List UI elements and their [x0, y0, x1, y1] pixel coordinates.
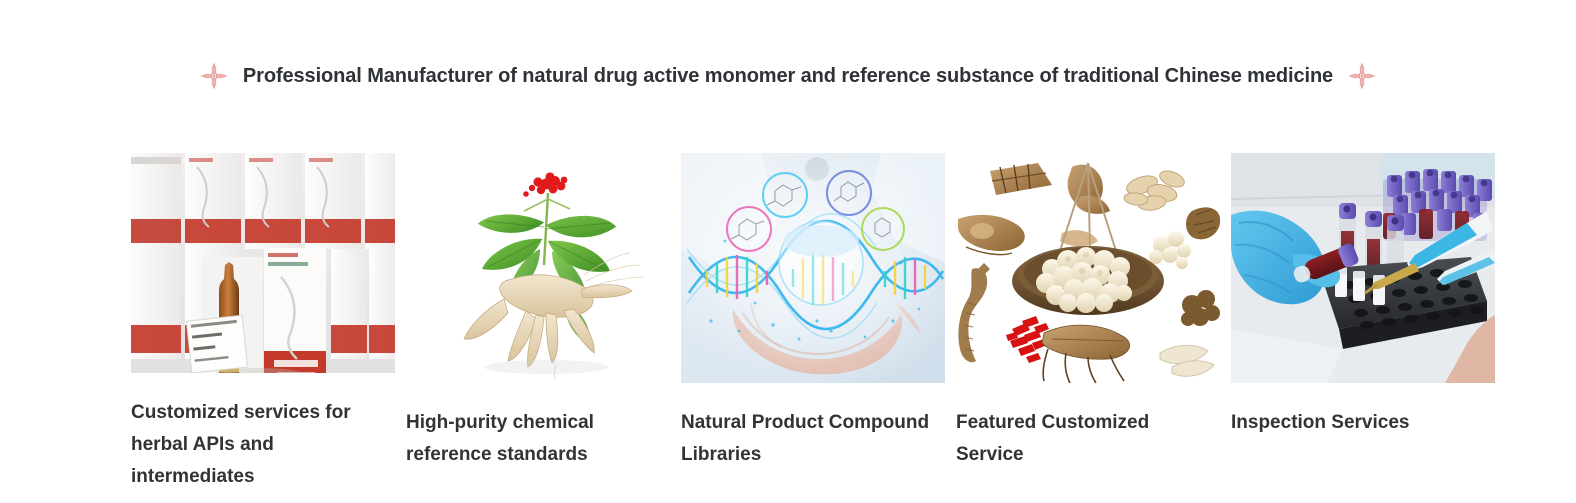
service-card[interactable]: Customized services for herbal APIs and …: [131, 153, 395, 493]
flower-ornament-icon: [201, 63, 227, 89]
service-card-caption: Natural Product Compound Libraries: [681, 407, 931, 471]
ginseng-root-plant-image[interactable]: [406, 153, 670, 383]
service-card-caption: High-purity chemical reference standards: [406, 407, 656, 471]
service-card[interactable]: High-purity chemical reference standards: [406, 153, 670, 493]
service-card[interactable]: Inspection Services: [1231, 153, 1495, 493]
services-banner: Professional Manufacturer of natural dru…: [0, 0, 1576, 503]
chinese-herbal-medicine-scale-image[interactable]: [956, 153, 1220, 383]
pharmaceutical-reference-standard-boxes-image[interactable]: [131, 153, 395, 373]
dna-helix-in-hand-image[interactable]: [681, 153, 945, 383]
service-card-caption: Customized services for herbal APIs and …: [131, 397, 381, 493]
headline-row: Professional Manufacturer of natural dru…: [0, 56, 1576, 96]
laboratory-blood-sample-testing-image[interactable]: [1231, 153, 1495, 383]
service-card-caption: Featured Customized Service: [956, 407, 1206, 471]
service-card-list: Customized services for herbal APIs and …: [131, 153, 1493, 493]
service-card[interactable]: Natural Product Compound Libraries: [681, 153, 945, 493]
service-card-caption: Inspection Services: [1231, 407, 1481, 439]
flower-ornament-icon-right: [1349, 63, 1375, 89]
service-card[interactable]: Featured Customized Service: [956, 153, 1220, 493]
page-title: Professional Manufacturer of natural dru…: [243, 64, 1333, 88]
